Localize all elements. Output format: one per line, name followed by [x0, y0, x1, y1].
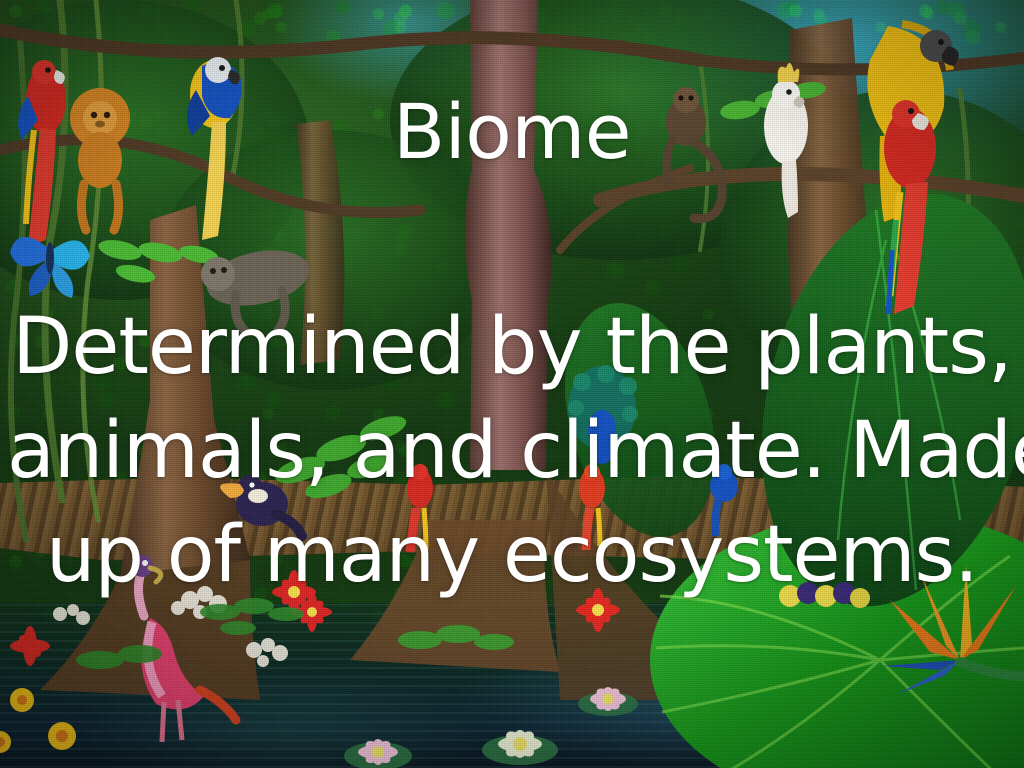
body-line-2: animals, and climate. Made [7, 399, 1017, 503]
slide-text-layer: Biome Determined by the plants, animals,… [0, 0, 1024, 768]
slide-title: Biome [393, 92, 631, 172]
body-line-3: up of many ecosystems. [7, 503, 1017, 607]
presentation-slide: Biome Determined by the plants, animals,… [0, 0, 1024, 768]
slide-body-text: Determined by the plants, animals, and c… [7, 295, 1017, 607]
body-line-1: Determined by the plants, [7, 295, 1017, 399]
